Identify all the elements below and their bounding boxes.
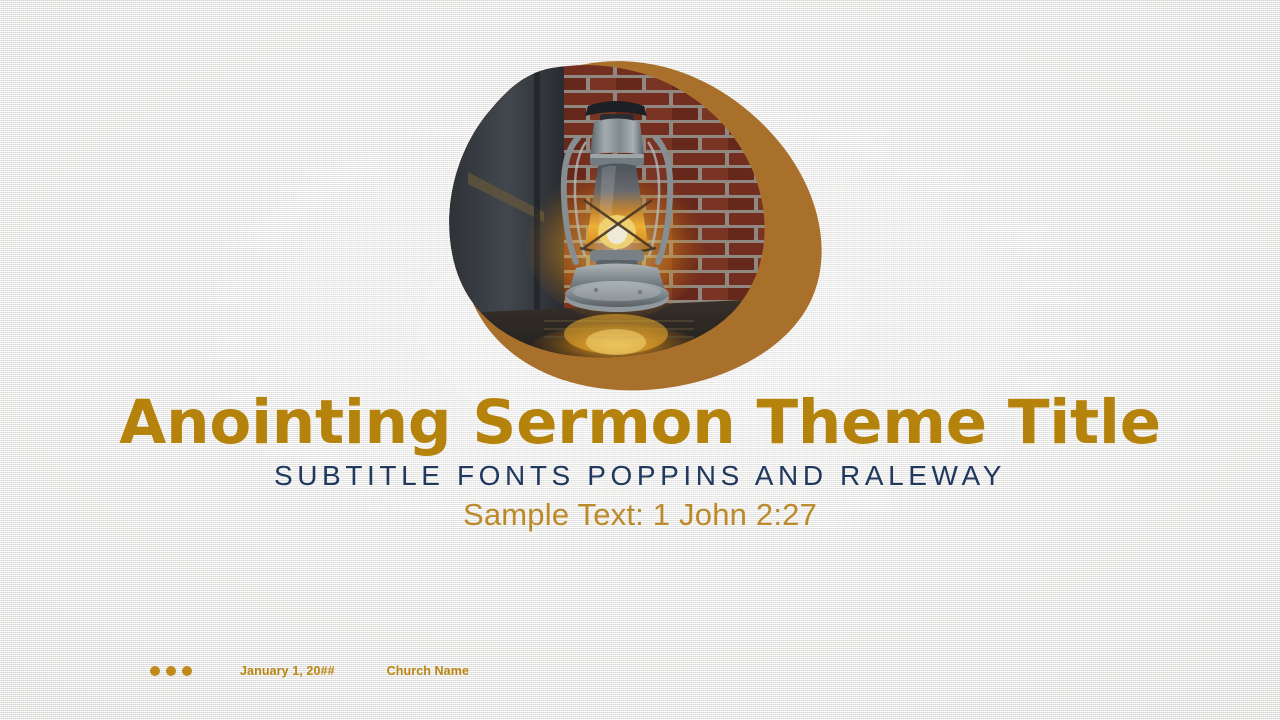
footer-date: January 1, 20##	[240, 664, 335, 678]
slide-scripture-reference: Sample Text: 1 John 2:27	[0, 496, 1280, 535]
dot-icon-3	[182, 666, 192, 676]
slide-text-block: Anointing Sermon Theme Title SUBTITLE FO…	[0, 392, 1280, 535]
hero-image-cluster	[430, 40, 830, 390]
presentation-slide: Anointing Sermon Theme Title SUBTITLE FO…	[0, 0, 1280, 720]
footer-church-name: Church Name	[387, 664, 469, 678]
lantern-photo-blob	[448, 62, 778, 362]
slide-subtitle: SUBTITLE FONTS POPPINS AND RALEWAY	[0, 458, 1280, 493]
slide-footer: January 1, 20## Church Name	[150, 660, 469, 682]
page-title: Anointing Sermon Theme Title	[0, 392, 1280, 454]
dot-icon-2	[166, 666, 176, 676]
dot-icon-1	[150, 666, 160, 676]
footer-dots-decoration	[150, 666, 192, 676]
